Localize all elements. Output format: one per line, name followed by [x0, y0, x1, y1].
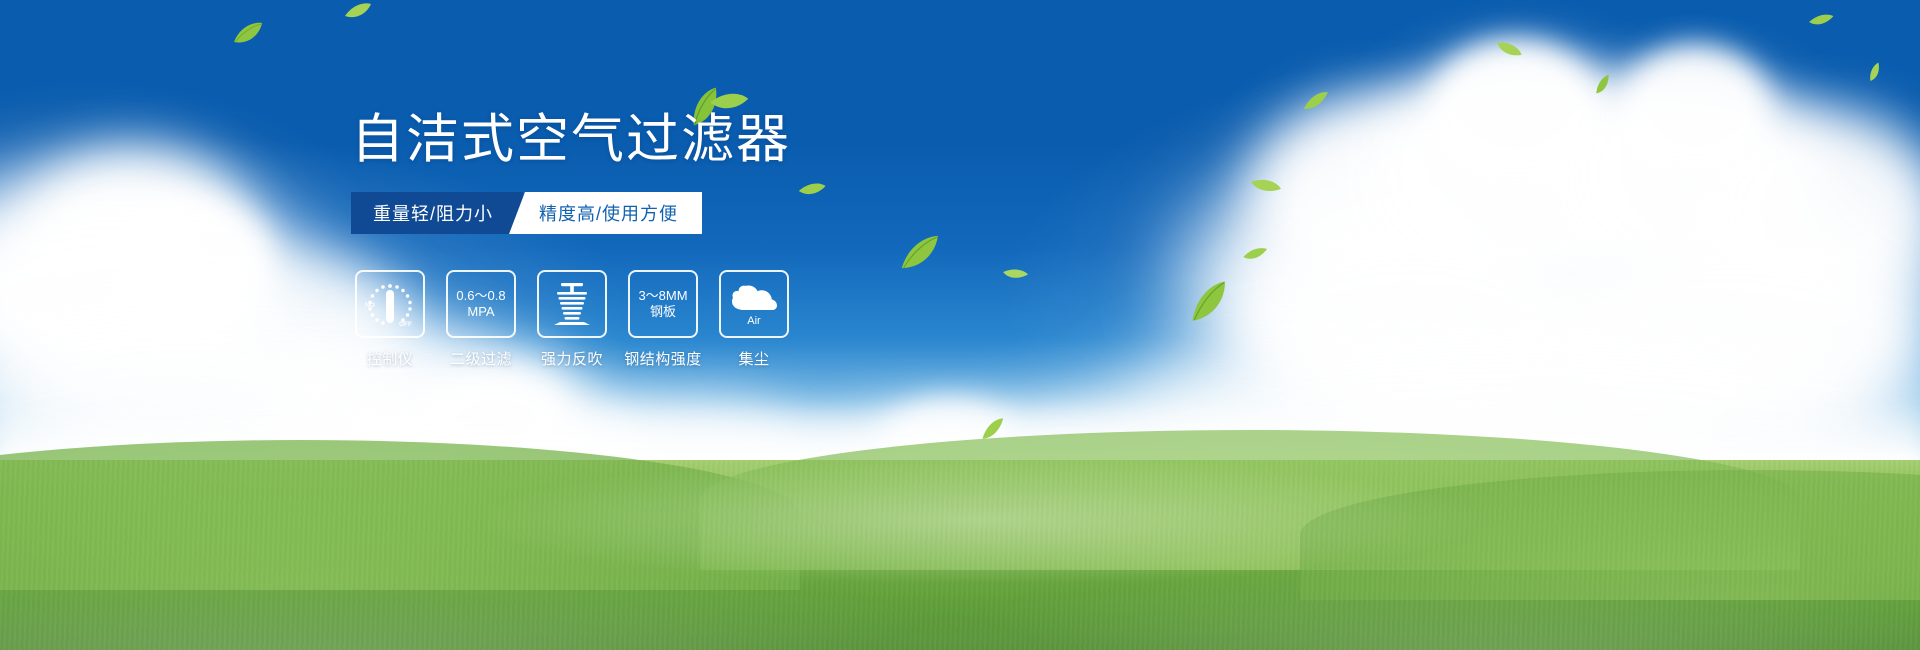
cloud-air-icon: [728, 280, 780, 314]
feature-value-air-label: Air: [747, 315, 760, 329]
product-banner: 自洁式空气过滤器 重量轻/阻力小 精度高/使用方便: [0, 0, 1920, 650]
tag-highprecision-easyuse[interactable]: 精度高/使用方便: [509, 192, 702, 234]
svg-text:NO: NO: [365, 302, 375, 309]
feature-box-dust-collection: Air: [719, 270, 789, 338]
blowback-icon: [549, 279, 595, 329]
feature-list: NO OFF 控制仪 0.6～0.8 MPA 二级过滤: [355, 270, 789, 369]
feature-item-strong-blowback[interactable]: 强力反吹: [537, 270, 607, 369]
feature-label-steel-strength: 钢结构强度: [624, 348, 702, 369]
gauge-icon: NO OFF: [363, 278, 417, 330]
feature-label-controller: 控制仪: [367, 348, 414, 369]
feature-value-steel-plate: 钢板: [650, 304, 676, 320]
feature-box-two-stage-filter: 0.6～0.8 MPA: [446, 270, 516, 338]
feature-value-steel-thickness: 3～8MM: [638, 288, 687, 304]
banner-content: 自洁式空气过滤器 重量轻/阻力小 精度高/使用方便: [0, 0, 1920, 650]
feature-item-dust-collection[interactable]: Air 集尘: [719, 270, 789, 369]
feature-box-steel-strength: 3～8MM 钢板: [628, 270, 698, 338]
feature-label-dust-collection: 集尘: [738, 348, 769, 369]
feature-label-two-stage-filter: 二级过滤: [450, 348, 512, 369]
feature-box-strong-blowback: [537, 270, 607, 338]
feature-item-controller[interactable]: NO OFF 控制仪: [355, 270, 425, 369]
feature-box-controller: NO OFF: [355, 270, 425, 338]
svg-text:OFF: OFF: [399, 321, 412, 328]
feature-item-steel-strength[interactable]: 3～8MM 钢板 钢结构强度: [628, 270, 698, 369]
tag-group: 重量轻/阻力小 精度高/使用方便: [351, 192, 702, 234]
feature-item-two-stage-filter[interactable]: 0.6～0.8 MPA 二级过滤: [446, 270, 516, 369]
tag-lightweight-lowresistance[interactable]: 重量轻/阻力小: [351, 192, 523, 234]
feature-value-pressure-unit: MPA: [467, 304, 494, 320]
feature-label-strong-blowback: 强力反吹: [541, 348, 603, 369]
feature-value-pressure-range: 0.6～0.8: [456, 288, 505, 304]
page-title: 自洁式空气过滤器: [351, 112, 791, 168]
